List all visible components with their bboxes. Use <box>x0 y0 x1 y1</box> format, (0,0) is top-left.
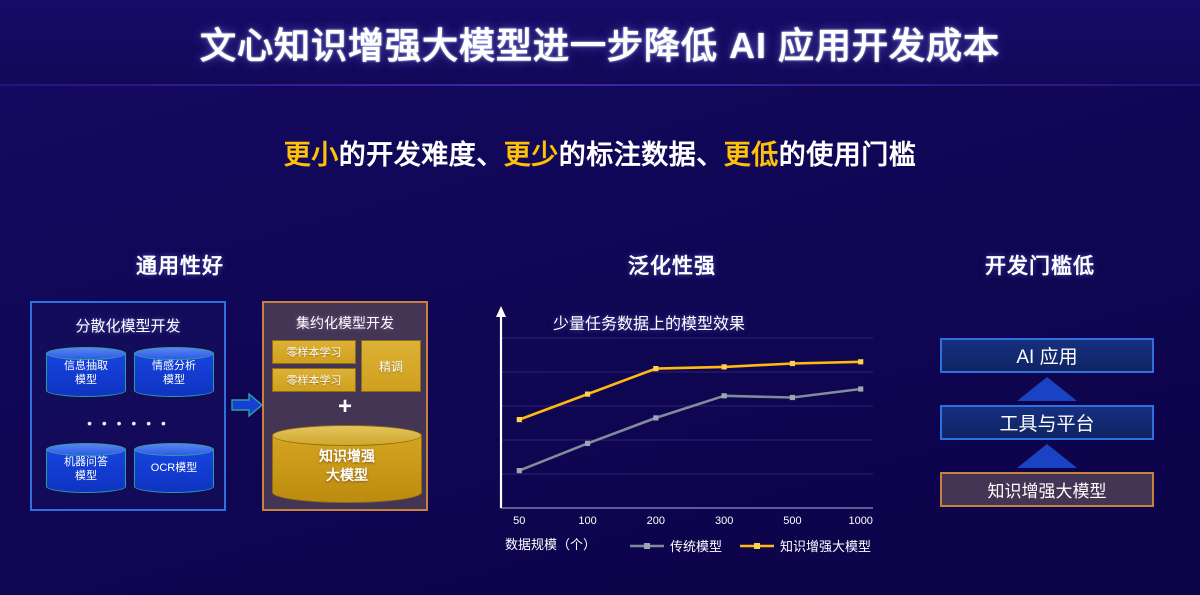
subtitle-highlight-1: 更小 <box>284 140 339 170</box>
legend-swatch-icon <box>630 541 664 551</box>
title-divider <box>0 84 1200 86</box>
cylinder-top <box>134 443 214 456</box>
model-cylinder-ocr: OCR模型 <box>134 443 214 493</box>
svg-text:100: 100 <box>578 515 596 527</box>
cylinder-label-line2: 大模型 <box>272 466 422 485</box>
cylinder-label-line1: 情感分析 <box>134 359 214 373</box>
cylinder-label-line2: 模型 <box>46 373 126 387</box>
legend-label: 知识增强大模型 <box>780 536 871 555</box>
stack-box-knowledge-model[interactable]: 知识增强大模型 <box>940 472 1154 507</box>
model-cylinder-sentiment: 情感分析 模型 <box>134 347 214 397</box>
arrow-right-icon <box>231 392 263 418</box>
tag-zero-shot-1: 零样本学习 <box>272 340 356 364</box>
svg-text:300: 300 <box>715 515 733 527</box>
section-heading-generalization: 泛化性强 <box>628 250 716 280</box>
chart-plot-area: 501002003005001000 <box>465 300 885 530</box>
cylinder-label: 机器问答 模型 <box>46 455 126 483</box>
cylinder-top <box>272 425 422 446</box>
chart-xaxis-label: 数据规模（个） <box>505 534 596 553</box>
model-cylinder-qa: 机器问答 模型 <box>46 443 126 493</box>
subtitle-text-1: 的开发难度、 <box>339 140 504 170</box>
subtitle: 更小的开发难度、更少的标注数据、更低的使用门槛 <box>0 133 1200 172</box>
intensive-panel-title: 集约化模型开发 <box>264 313 426 333</box>
section-heading-generality: 通用性好 <box>136 250 224 280</box>
subtitle-text-3: 的使用门槛 <box>779 140 917 170</box>
cylinder-label: OCR模型 <box>134 461 214 475</box>
plus-icon: + <box>264 395 426 419</box>
model-cylinder-info-extraction: 信息抽取 模型 <box>46 347 126 397</box>
ellipsis-dots: • • • • • • <box>32 415 224 431</box>
cylinder-label-line1: 信息抽取 <box>46 359 126 373</box>
tag-zero-shot-2: 零样本学习 <box>272 368 356 392</box>
svg-text:500: 500 <box>783 515 801 527</box>
subtitle-highlight-2: 更少 <box>504 140 559 170</box>
tag-finetune: 精调 <box>361 340 421 392</box>
scattered-panel-title: 分散化模型开发 <box>32 315 224 336</box>
title-bar: 文心知识增强大模型进一步降低 AI 应用开发成本 <box>0 0 1200 85</box>
cylinder-label-line2: 模型 <box>46 469 126 483</box>
legend-item-traditional: 传统模型 <box>630 536 722 555</box>
cylinder-label-line1: OCR模型 <box>134 461 214 475</box>
stack-box-tools-platform[interactable]: 工具与平台 <box>940 405 1154 440</box>
legend-item-knowledge: 知识增强大模型 <box>740 536 871 555</box>
big-model-cylinder: 知识增强 大模型 <box>272 425 422 503</box>
svg-text:1000: 1000 <box>848 515 872 527</box>
stack-box-ai-application[interactable]: AI 应用 <box>940 338 1154 373</box>
subtitle-highlight-3: 更低 <box>724 140 779 170</box>
page-title: 文心知识增强大模型进一步降低 AI 应用开发成本 <box>200 17 1000 69</box>
legend-label: 传统模型 <box>670 536 722 555</box>
cylinder-label-line1: 机器问答 <box>46 455 126 469</box>
arrow-up-icon <box>1016 376 1078 402</box>
cylinder-label: 信息抽取 模型 <box>46 359 126 387</box>
cylinder-label-line1: 知识增强 <box>272 447 422 466</box>
svg-text:50: 50 <box>513 515 525 527</box>
performance-chart: 少量任务数据上的模型效果 501002003005001000 数据规模（个） … <box>465 300 885 565</box>
slide-root: 文心知识增强大模型进一步降低 AI 应用开发成本 更小的开发难度、更少的标注数据… <box>0 0 1200 595</box>
arrow-up-icon <box>1016 443 1078 469</box>
cylinder-label-line2: 模型 <box>134 373 214 387</box>
section-heading-low-barrier: 开发门槛低 <box>985 250 1095 280</box>
cylinder-label: 情感分析 模型 <box>134 359 214 387</box>
legend-swatch-icon <box>740 541 774 551</box>
svg-text:200: 200 <box>647 515 665 527</box>
scattered-development-panel: 分散化模型开发 信息抽取 模型 情感分析 模型 • • • • • • <box>30 301 226 511</box>
subtitle-text-2: 的标注数据、 <box>559 140 724 170</box>
cylinder-label: 知识增强 大模型 <box>272 447 422 485</box>
intensive-development-panel: 集约化模型开发 零样本学习 零样本学习 精调 + 知识增强 大模型 <box>262 301 428 511</box>
